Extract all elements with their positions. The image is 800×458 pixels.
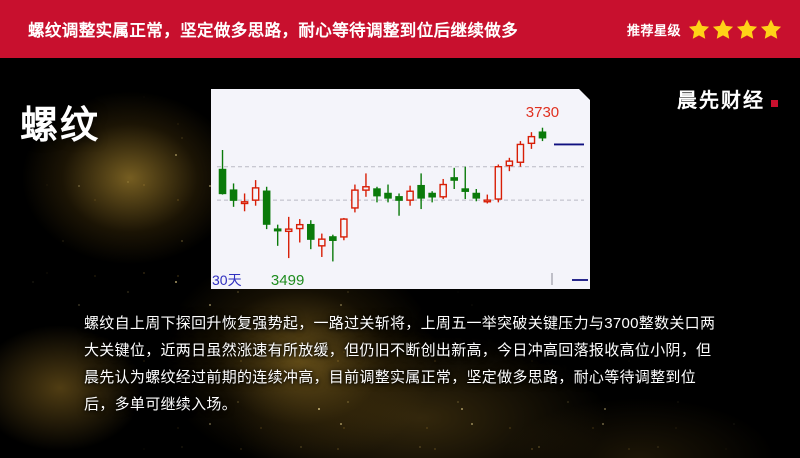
analysis-text: 螺纹自上周下探回升恢复强势起，一路过关斩将，上周五一举突破关键压力与3700整数… <box>84 310 724 418</box>
brand-dot-icon <box>771 100 778 107</box>
rating-label: 推荐星级 <box>627 20 681 39</box>
star-icon <box>688 18 710 40</box>
poster-root: 螺纹调整实属正常，坚定做多思路，耐心等待调整到位后继续做多 推荐星级 螺纹 晨先… <box>0 0 800 458</box>
brand-mark: 晨先财经 <box>677 84 778 113</box>
banner-headline: 螺纹调整实属正常，坚定做多思路，耐心等待调整到位后继续做多 <box>28 17 518 41</box>
chart-canvas: 3730349930天 <box>211 89 590 289</box>
candlestick-chart: 3730349930天 <box>211 89 590 289</box>
star-rating <box>688 18 782 40</box>
star-icon <box>736 18 758 40</box>
rating-group: 推荐星级 <box>627 18 782 40</box>
page-title: 螺纹 <box>20 94 100 149</box>
chart-high-label: 3730 <box>526 104 559 121</box>
chart-period-label: 30天 <box>212 272 242 288</box>
brand-name: 晨先财经 <box>677 84 765 113</box>
chart-low-label: 3499 <box>271 272 304 289</box>
top-banner: 螺纹调整实属正常，坚定做多思路，耐心等待调整到位后继续做多 推荐星级 <box>0 0 800 58</box>
star-icon <box>760 18 782 40</box>
star-icon <box>712 18 734 40</box>
